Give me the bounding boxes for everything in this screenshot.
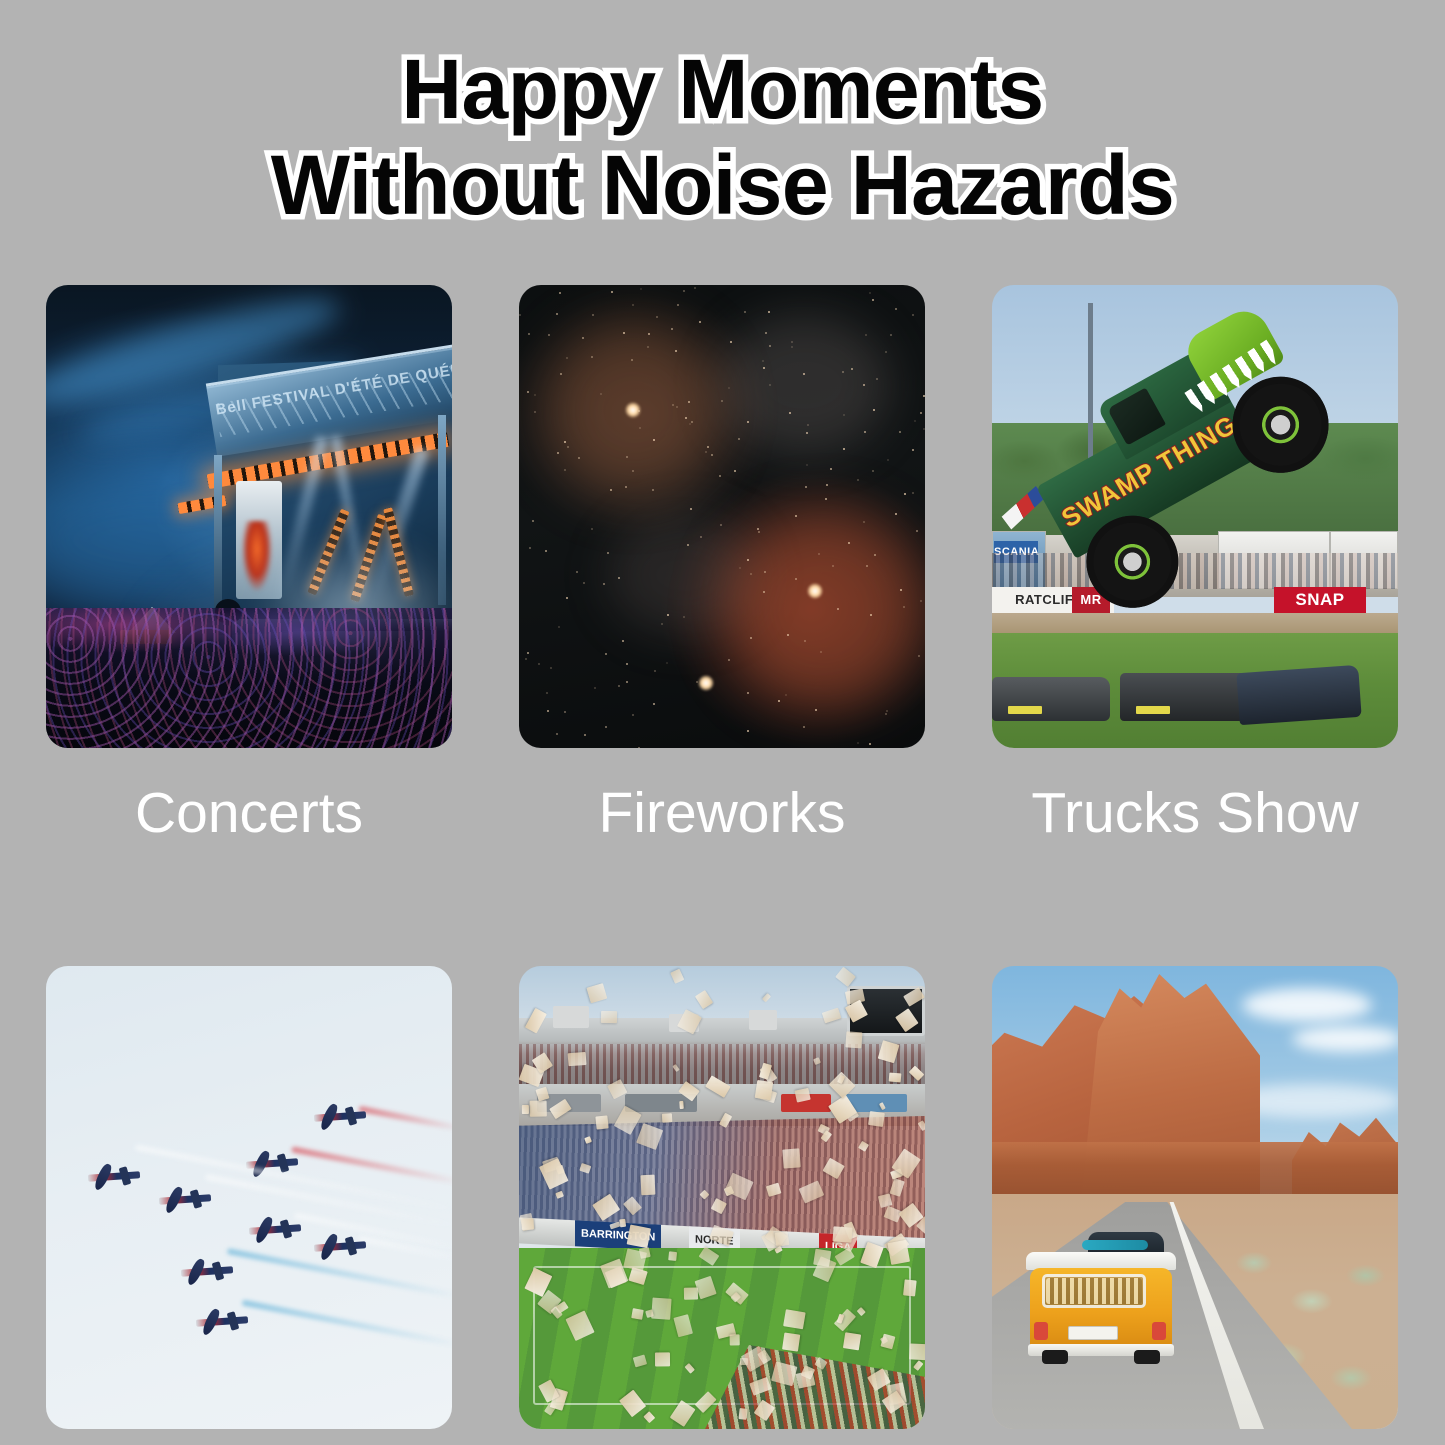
flying-paper xyxy=(832,1226,852,1243)
camper-van xyxy=(1026,1226,1176,1366)
flying-paper xyxy=(846,1031,863,1048)
flying-paper xyxy=(842,1332,860,1351)
flying-paper xyxy=(795,1087,811,1102)
flying-paper xyxy=(651,1298,672,1320)
van-tire xyxy=(1134,1350,1160,1364)
jet-aircraft xyxy=(249,1214,301,1244)
flying-paper xyxy=(782,1333,801,1352)
flying-paper xyxy=(755,1079,773,1099)
flying-paper xyxy=(904,1279,917,1296)
gallery-item-stadium-events[interactable]: BARRINGTON NORTE LIGA Stadium Events xyxy=(519,966,925,1445)
flying-paper xyxy=(655,1352,670,1367)
flying-paper xyxy=(522,1105,529,1114)
crushed-car xyxy=(992,677,1110,721)
flying-paper xyxy=(730,1334,740,1346)
jet-aircraft xyxy=(314,1101,366,1131)
jet-aircraft xyxy=(159,1184,211,1214)
flying-paper xyxy=(631,1308,644,1320)
roof-box xyxy=(749,1010,777,1030)
caption-trucks-show: Trucks Show xyxy=(992,785,1398,842)
license-plate xyxy=(1068,1326,1118,1340)
flying-paper xyxy=(619,1219,626,1227)
trucks-show-image[interactable]: SCANIA RATCLIFFE MR SNAP SWAMP THING xyxy=(992,285,1398,748)
van-tire xyxy=(1042,1350,1068,1364)
gallery-grid: Bell FESTIVAL D'ÉTÉ DE QUÉBEC Conc xyxy=(46,285,1398,1445)
travelling-image[interactable] xyxy=(992,966,1398,1429)
flying-paper xyxy=(669,969,683,984)
caption-fireworks: Fireworks xyxy=(519,785,925,842)
caption-concerts: Concerts xyxy=(46,785,452,842)
flying-paper xyxy=(887,1240,909,1265)
page-title: Happy Moments Without Noise Hazards xyxy=(0,42,1445,234)
flying-paper xyxy=(684,1288,698,1300)
flying-paper xyxy=(668,1251,677,1261)
cloud-shape xyxy=(1292,1026,1398,1052)
surfboard xyxy=(1082,1240,1148,1250)
flying-paper xyxy=(835,967,855,987)
flying-paper xyxy=(774,1231,789,1246)
flying-paper xyxy=(640,1175,655,1196)
crushed-car xyxy=(1120,673,1252,721)
flying-paper xyxy=(889,1072,902,1082)
smoke-trail xyxy=(242,1299,452,1348)
title-line-2: Without Noise Hazards xyxy=(0,138,1445,234)
flying-paper xyxy=(909,1343,925,1360)
flying-paper xyxy=(761,993,771,1003)
title-line-1: Happy Moments xyxy=(0,42,1445,138)
jet-aircraft xyxy=(181,1256,233,1286)
flying-paper xyxy=(645,1309,654,1318)
cloud-shape xyxy=(1242,988,1372,1022)
poster-canvas: Happy Moments Without Noise Hazards Bell… xyxy=(0,0,1445,1445)
tail-light xyxy=(1152,1322,1166,1340)
jet-aircraft xyxy=(88,1161,140,1191)
flying-paper xyxy=(567,1053,586,1067)
flying-paper xyxy=(529,1100,547,1116)
crushed-car xyxy=(1236,665,1361,725)
rock-strata xyxy=(992,1142,1398,1200)
flying-paper xyxy=(695,990,713,1009)
smoke-trail xyxy=(358,1106,452,1132)
gallery-item-concerts[interactable]: Bell FESTIVAL D'ÉTÉ DE QUÉBEC Conc xyxy=(46,285,452,842)
flying-paper xyxy=(783,1309,806,1329)
flying-paper xyxy=(782,1148,800,1168)
tail-light xyxy=(1034,1322,1048,1340)
van-rear-window xyxy=(1042,1274,1146,1308)
gallery-item-travelling[interactable]: Travelling xyxy=(992,966,1398,1445)
stadium-events-image[interactable]: BARRINGTON NORTE LIGA xyxy=(519,966,925,1429)
stage-tower-left xyxy=(214,455,222,617)
air-shows-image[interactable] xyxy=(46,966,452,1429)
flying-paper xyxy=(595,1116,608,1130)
flying-paper xyxy=(868,1111,884,1127)
jet-aircraft xyxy=(196,1306,248,1336)
flying-paper xyxy=(813,1248,831,1266)
flying-paper xyxy=(626,1224,651,1248)
firework-glow xyxy=(724,509,924,709)
flying-paper xyxy=(601,1011,617,1023)
flying-paper xyxy=(521,1218,533,1230)
gallery-item-fireworks[interactable]: Fireworks xyxy=(519,285,925,842)
flying-paper xyxy=(662,1113,672,1122)
gallery-item-air-shows[interactable]: Air Shows xyxy=(46,966,452,1445)
concerts-image[interactable]: Bell FESTIVAL D'ÉTÉ DE QUÉBEC xyxy=(46,285,452,748)
flying-paper xyxy=(738,1408,748,1419)
concert-crowd xyxy=(46,608,452,748)
jet-aircraft xyxy=(314,1231,366,1261)
fireworks-image[interactable] xyxy=(519,285,925,748)
flying-paper xyxy=(587,983,607,1003)
banner-snap: SNAP xyxy=(1274,587,1366,613)
gallery-item-trucks-show[interactable]: SCANIA RATCLIFFE MR SNAP SWAMP THING xyxy=(992,285,1398,842)
flying-paper xyxy=(679,1101,684,1109)
roof-box xyxy=(553,1006,589,1028)
